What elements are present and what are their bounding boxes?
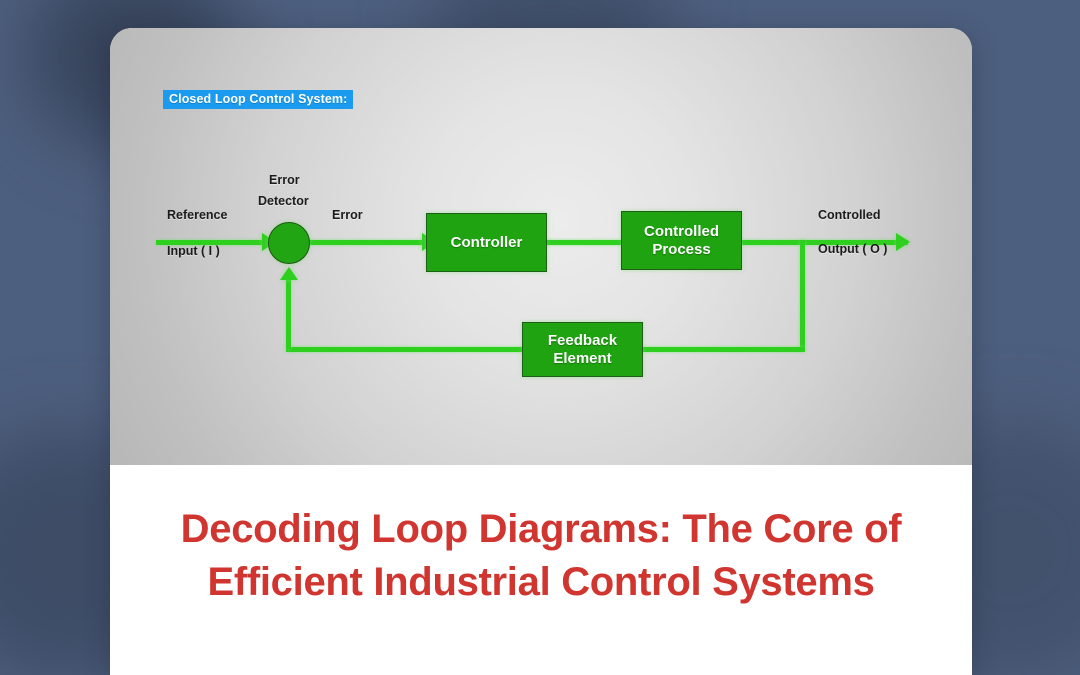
label-error-detector-line2: Detector: [258, 194, 309, 208]
block-controller: Controller: [426, 213, 547, 272]
line-feedback-return-vertical: [286, 271, 291, 349]
label-controlled-output-line2: Output ( O ): [818, 242, 887, 256]
page-title: Decoding Loop Diagrams: The Core of Effi…: [150, 503, 932, 609]
block-controlled-process-line2: Process: [652, 241, 710, 258]
article-title-area: Decoding Loop Diagrams: The Core of Effi…: [110, 465, 972, 609]
closed-loop-control-system-diagram: Closed Loop Control System: Controller C…: [110, 28, 972, 465]
block-controlled-process: Controlled Process: [621, 211, 742, 270]
arrow-controlled-output-icon: [896, 233, 910, 251]
article-card: Closed Loop Control System: Controller C…: [110, 28, 972, 675]
block-controlled-process-line1: Controlled: [644, 223, 719, 240]
block-feedback-element-line2: Element: [553, 350, 611, 367]
line-controller-to-process: [545, 240, 623, 245]
label-reference: Reference: [167, 208, 227, 222]
line-feedback-tap-vertical: [800, 240, 805, 350]
diagram-heading-tag: Closed Loop Control System:: [163, 90, 353, 109]
label-controlled-output-line1: Controlled: [818, 208, 881, 222]
label-input: Input ( I ): [167, 244, 220, 258]
block-feedback-element-line1: Feedback: [548, 332, 617, 349]
error-detector-node: [268, 222, 310, 264]
label-error-detector-line1: Error: [269, 173, 300, 187]
arrow-feedback-into-error-detector-icon: [280, 267, 298, 280]
block-feedback-element: Feedback Element: [522, 322, 643, 377]
line-error-to-controller: [306, 240, 430, 245]
label-error: Error: [332, 208, 363, 222]
